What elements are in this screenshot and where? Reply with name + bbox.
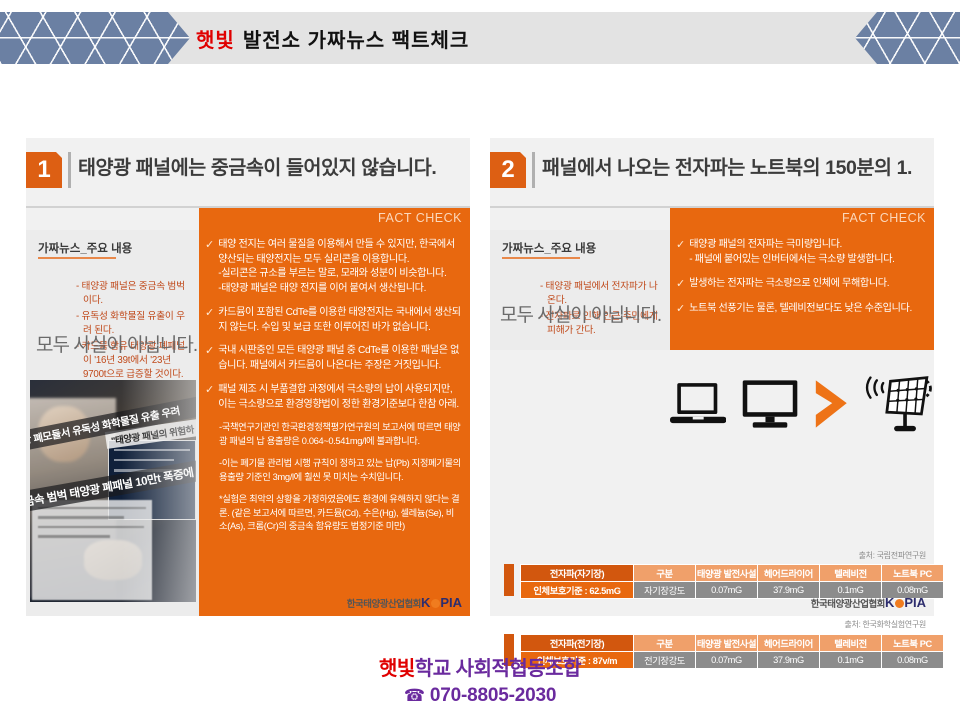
card-1-number-badge: 1 xyxy=(26,152,62,188)
table-row: 전자파(자기장) 구분 태양광 발전사설 헤어드라이어 텔레비전 노트북 PC xyxy=(521,565,944,582)
table-2-row-label: 전자파(전기장) xyxy=(521,635,634,652)
card-2-fake-news-panel: 가짜뉴스_주요 내용 - 태양광 패널에서 전자파가 나온다. - 전자파로 인… xyxy=(490,230,670,350)
kopia-brand-k: K xyxy=(421,595,430,610)
fact-item: ✓ 발생하는 전자파는 극소량으로 인체에 무해합니다. xyxy=(676,277,926,292)
fact-item: ✓ 태양 전지는 여러 물질을 이용해서 만들 수 있지만, 한국에서 양산되는… xyxy=(205,238,462,297)
card-1-fake-news-panel: 가짜뉴스_주요 내용 - 태양광 패널은 중금속 범벅이다. - 유독성 화학물… xyxy=(26,230,199,616)
card-2-fact-check-strip: FACT CHECK xyxy=(670,208,934,230)
kopia-assoc-label: 한국태양광산업협회 xyxy=(811,596,885,610)
fact-text: 태양광 패널의 전자파는 극미량입니다. - 패널에 붙어있는 인버터에서는 극… xyxy=(689,238,894,267)
check-icon: ✓ xyxy=(676,238,689,267)
footer-org-rest: 학교 사회적협동조합 xyxy=(415,658,581,680)
table-2-header-1: 태양광 발전사설 xyxy=(696,635,758,652)
table-1-header-0: 구분 xyxy=(634,565,696,582)
greater-than-chevron-icon xyxy=(814,376,850,432)
card-2-number-badge: 2 xyxy=(490,152,526,188)
fact-text: 국내 시판중인 모든 태양광 패널 중 CdTe를 이용한 패널은 없습니다. … xyxy=(218,344,462,373)
card-1-headline: 태양광 패널에는 중금속이 들어있지 않습니다. xyxy=(78,151,436,180)
table-2-source: 출처: 한국화학실험연구원 xyxy=(844,619,926,630)
kopia-brand-pia: PIA xyxy=(440,595,462,610)
card-1-body: 가짜뉴스_주요 내용 - 태양광 패널은 중금속 범벅이다. - 유독성 화학물… xyxy=(26,230,470,616)
laptop-icon xyxy=(670,379,726,429)
header-right-hex-pattern xyxy=(855,12,960,64)
photo-fade-overlay xyxy=(30,380,196,602)
kopia-brand-o-icon xyxy=(431,599,440,608)
card-1-kopia-logo: 한국태양광산업협회 K PIA xyxy=(347,595,462,610)
card-2-headline: 패널에서 나오는 전자파는 노트북의 150분의 1. xyxy=(542,151,912,180)
page-header-banner: 햇빛 발전소 가짜뉴스 팩트체크 xyxy=(0,12,960,64)
check-icon: ✓ xyxy=(205,306,218,335)
card-2-fake-news-conclusion: 모두 사실이 아닙니다. xyxy=(500,300,661,327)
fact-card-1: 1 태양광 패널에는 중금속이 들어있지 않습니다. FACT CHECK 가짜… xyxy=(26,138,470,616)
card-1-fake-news-title: 가짜뉴스_주요 내용 xyxy=(38,240,132,256)
card-1-fact-panel: ✓ 태양 전지는 여러 물질을 이용해서 만들 수 있지만, 한국에서 양산되는… xyxy=(199,230,470,616)
check-icon: ✓ xyxy=(676,277,689,292)
card-1-fake-news-underline xyxy=(38,257,116,259)
fact-item: ✓ 패널 제조 시 부품결합 과정에서 극소량의 납이 사용되지만, 이는 극소… xyxy=(205,383,462,412)
fact-sub: -실리콘은 규소를 부르는 말로, 모래와 성분이 비슷합니다. xyxy=(218,267,462,282)
table-1-header-3: 텔레비전 xyxy=(820,565,882,582)
card-1-fake-news-conclusion: 모두 사실이 아닙니다. xyxy=(36,330,197,357)
table-row: 전자파(전기장) 구분 태양광 발전사설 헤어드라이어 텔레비전 노트북 PC xyxy=(521,635,944,652)
fact-note: -이는 폐기물 관리법 시행 규칙이 정하고 있는 납(Pb) 지정폐기물의 용… xyxy=(219,457,462,484)
card-2-header: 2 패널에서 나오는 전자파는 노트북의 150분의 1. xyxy=(490,138,934,214)
panel-grid xyxy=(887,378,927,414)
fact-item: ✓ 태양광 패널의 전자파는 극미량입니다. - 패널에 붙어있는 인버터에서는… xyxy=(676,238,926,267)
solar-panel-icon xyxy=(865,371,934,437)
fact-note: -국책연구기관인 한국환경정책평가연구원의 보고서에 따르면 태양광 패널의 납… xyxy=(219,421,462,448)
fact-main: 태양광 패널의 전자파는 극미량입니다. xyxy=(689,239,842,250)
table-2-header-2: 헤어드라이어 xyxy=(758,635,820,652)
header-left-hex-pattern xyxy=(0,12,190,64)
card-2-kopia-logo: 한국태양광산업협회 K PIA xyxy=(811,595,926,610)
card-1-news-photo-collage: "태양광 패널의 위험하 광 폐모듈서 유독성 화학물질 유출 우려 금속 범벅… xyxy=(30,380,196,602)
check-icon: ✓ xyxy=(205,383,218,412)
table-1-source: 출처: 국립전파연구원 xyxy=(859,550,926,561)
card-1-fact-check-strip: FACT CHECK xyxy=(199,208,470,230)
fact-note: *실험은 최악의 상황을 가정하였음에도 환경에 유해하지 않다는 결론. (같… xyxy=(219,493,462,533)
table-1-row-label: 전자파(자기장) xyxy=(521,565,634,582)
fact-sub: -태양광 패널은 태양 전지를 이어 붙여서 생산됩니다. xyxy=(218,282,462,297)
card-1-header: 1 태양광 패널에는 중금속이 들어있지 않습니다. xyxy=(26,138,470,214)
kopia-assoc-label: 한국태양광산업협회 xyxy=(347,596,421,610)
page-footer: 햇빛학교 사회적협동조합 ☎ 070-8805-2030 xyxy=(0,652,960,707)
fact-sub: - 패널에 붙어있는 인버터에서는 극소량 발생합니다. xyxy=(689,253,894,268)
table-2-header-0: 구분 xyxy=(634,635,696,652)
kopia-brand-pia: PIA xyxy=(904,595,926,610)
list-item: - 태양광 패널은 중금속 범벅이다. xyxy=(76,280,193,308)
emf-table-1: 전자파(자기장) 구분 태양광 발전사설 헤어드라이어 텔레비전 노트북 PC … xyxy=(520,564,944,599)
fact-text: 태양 전지는 여러 물질을 이용해서 만들 수 있지만, 한국에서 양산되는 태… xyxy=(218,238,462,297)
fact-text: 패널 제조 시 부품결합 과정에서 극소량의 납이 사용되지만, 이는 극소량으… xyxy=(218,383,462,412)
monitor-icon xyxy=(740,377,800,431)
fact-item: ✓ 카드뮴이 포함된 CdTe를 이용한 태양전지는 국내에서 생산되지 않는다… xyxy=(205,306,462,335)
table-1-header-1: 태양광 발전사설 xyxy=(696,565,758,582)
footer-contact: ☎ 070-8805-2030 xyxy=(0,685,960,707)
fact-item: ✓ 노트북 선풍기는 물론, 텔레비전보다도 낮은 수준입니다. xyxy=(676,302,926,317)
table-1-value-0: 0.07mG xyxy=(696,582,758,599)
kopia-brand-k: K xyxy=(885,595,894,610)
fact-main: 태양 전지는 여러 물질을 이용해서 만들 수 있지만, 한국에서 양산되는 태… xyxy=(218,239,455,265)
card-2-body: 가짜뉴스_주요 내용 - 태양광 패널에서 전자파가 나온다. - 전자파로 인… xyxy=(490,230,934,616)
table-1-accent-tab xyxy=(504,564,514,596)
emf-table-1-wrap: 전자파(자기장) 구분 태양광 발전사설 헤어드라이어 텔레비전 노트북 PC … xyxy=(504,564,928,599)
table-1-header-2: 헤어드라이어 xyxy=(758,565,820,582)
kopia-brand-o-icon xyxy=(895,599,904,608)
table-2-header-3: 텔레비전 xyxy=(820,635,882,652)
card-2-fact-check-label: FACT CHECK xyxy=(842,211,926,225)
emf-comparison-graphic xyxy=(670,354,934,454)
card-1-header-divider xyxy=(68,152,71,188)
table-1-header-4: 노트북 PC xyxy=(882,565,944,582)
fact-text: 노트북 선풍기는 물론, 텔레비전보다도 낮은 수준입니다. xyxy=(689,302,912,317)
footer-phone-number: 070-8805-2030 xyxy=(430,685,556,706)
fact-card-2: 2 패널에서 나오는 전자파는 노트북의 150분의 1. FACT CHECK… xyxy=(490,138,934,616)
table-1-value-label: 인체보호기준 : 62.5mG xyxy=(521,582,634,599)
card-2-fact-panel: ✓ 태양광 패널의 전자파는 극미량입니다. - 패널에 붙어있는 인버터에서는… xyxy=(670,230,934,350)
fact-text: 카드뮴이 포함된 CdTe를 이용한 태양전지는 국내에서 생산되지 않는다. … xyxy=(218,306,462,335)
check-icon: ✓ xyxy=(676,302,689,317)
telephone-icon: ☎ xyxy=(404,686,425,705)
card-2-fake-news-underline xyxy=(502,257,580,259)
fact-text: 발생하는 전자파는 극소량으로 인체에 무해합니다. xyxy=(689,277,889,292)
page-title-highlight: 햇빛 xyxy=(196,24,235,53)
footer-org-highlight: 햇빛 xyxy=(379,658,415,680)
check-icon: ✓ xyxy=(205,238,218,297)
card-1-fact-check-label: FACT CHECK xyxy=(378,211,462,225)
footer-org-name: 햇빛학교 사회적협동조합 xyxy=(0,652,960,681)
card-2-fake-news-title: 가짜뉴스_주요 내용 xyxy=(502,240,596,256)
check-icon: ✓ xyxy=(205,344,218,373)
table-2-header-4: 노트북 PC xyxy=(882,635,944,652)
table-1-unit-label: 자기장강도 xyxy=(634,582,696,599)
fact-item: ✓ 국내 시판중인 모든 태양광 패널 중 CdTe를 이용한 패널은 없습니다… xyxy=(205,344,462,373)
card-2-header-divider xyxy=(532,152,535,188)
page-title-rest: 발전소 가짜뉴스 팩트체크 xyxy=(243,24,470,53)
page-title: 햇빛 발전소 가짜뉴스 팩트체크 xyxy=(196,12,469,64)
